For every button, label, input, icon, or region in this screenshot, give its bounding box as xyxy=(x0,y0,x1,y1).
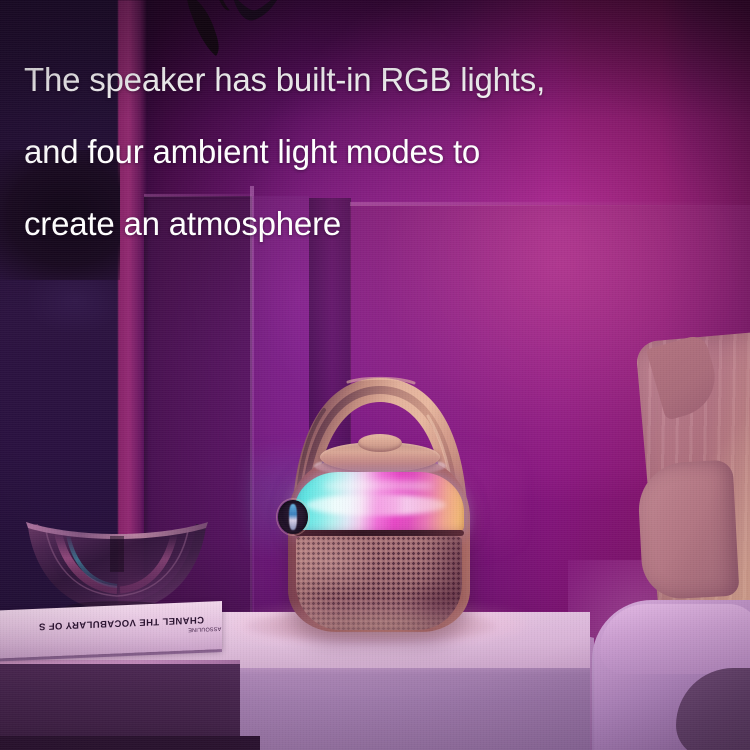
rgb-band-gloss xyxy=(306,494,446,516)
headline-line-2: and four ambient light modes to xyxy=(24,116,724,188)
headline-line-3: create an atmosphere xyxy=(24,188,724,260)
speaker-grille xyxy=(296,536,462,630)
promo-image-scene: CHANEL THE VOCABULARY OF S ASSOULINE xyxy=(0,0,750,750)
bed-pillow-small xyxy=(637,460,740,601)
headline-line-1: The speaker has built-in RGB lights, xyxy=(24,44,724,116)
rgb-light-band[interactable] xyxy=(294,472,464,534)
portable-rgb-speaker[interactable] xyxy=(258,372,504,634)
bed-sheet-roll xyxy=(600,604,750,674)
decorative-glass-bowl xyxy=(24,512,210,616)
rgb-band-gloss-upper xyxy=(322,480,434,492)
coffee-table-book: CHANEL THE VOCABULARY OF S ASSOULINE xyxy=(0,601,222,659)
top-knob[interactable] xyxy=(358,434,402,452)
book-spine-subtitle: ASSOULINE xyxy=(188,625,221,632)
side-port-rim xyxy=(276,498,310,536)
floor-shadow xyxy=(0,736,260,750)
book-spine-title: CHANEL THE VOCABULARY OF S xyxy=(0,614,204,634)
promo-headline: The speaker has built-in RGB lights, and… xyxy=(24,44,724,260)
